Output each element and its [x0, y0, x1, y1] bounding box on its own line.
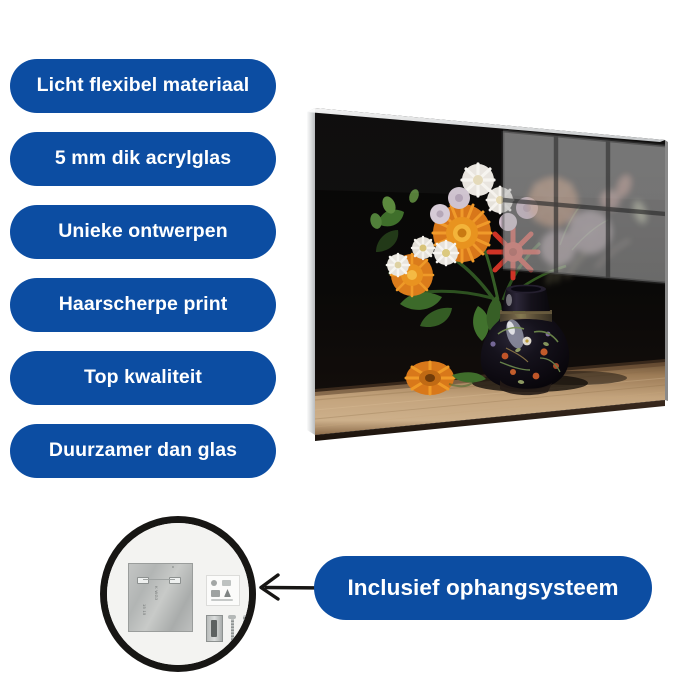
- screw-shaft: [231, 619, 234, 641]
- window-reflection-overlay: [315, 108, 666, 284]
- feature-badge-label: Unieke ontwerpen: [58, 222, 228, 242]
- feature-badge-label: Top kwaliteit: [84, 368, 202, 388]
- artwork-surface: [310, 100, 670, 440]
- product-feature-panel: Licht flexibel materiaal 5 mm dik acrylg…: [0, 0, 700, 700]
- flowers-white-cluster: [387, 164, 538, 276]
- window-mullions: [503, 131, 666, 283]
- hanging-system-callout-circle: K WG3 15 15 x: [100, 516, 256, 672]
- feature-badge-label: 5 mm dik acrylglas: [55, 149, 231, 169]
- mounting-plate-marking: x: [171, 566, 176, 568]
- feature-badge-label: Licht flexibel materiaal: [37, 76, 250, 96]
- instruction-leaflet: [206, 575, 240, 606]
- mounting-plate-marking: K WG3: [154, 586, 159, 600]
- hanging-system-hardware-photo: K WG3 15 15 x: [106, 519, 256, 672]
- wall-anchor: [206, 615, 223, 642]
- feature-badge-5-mm-dik-acrylglas[interactable]: 5 mm dik acrylglas: [10, 132, 276, 186]
- flower-fallen-orange: [406, 361, 486, 395]
- warning-triangle-icon: [224, 589, 231, 597]
- leaflet-icon: [211, 590, 220, 597]
- leaflet-icon: [222, 580, 231, 586]
- feature-badge-unieke-ontwerpen[interactable]: Unieke ontwerpen: [10, 205, 276, 259]
- leaflet-text-line: [211, 599, 233, 601]
- feature-badge-haarscherpe-print[interactable]: Haarscherpe print: [10, 278, 276, 332]
- feature-badge-label: Duurzamer dan glas: [49, 441, 237, 461]
- acrylic-edges: [307, 108, 668, 441]
- screw: [228, 615, 236, 641]
- mounting-plate-marking: 15 15: [142, 604, 147, 616]
- feature-badge-label: Haarscherpe print: [59, 295, 228, 315]
- wood-grain: [315, 370, 665, 427]
- hanging-system-badge-label: Inclusief ophangsysteem: [347, 577, 618, 600]
- bouquet-foliage: [369, 188, 608, 341]
- flower-orange-left: [391, 254, 433, 296]
- mounting-plate: K WG3 15 15 x: [128, 563, 193, 632]
- feature-badge-licht-flexibel-materiaal[interactable]: Licht flexibel materiaal: [10, 59, 276, 113]
- flower-orange-large: [433, 203, 491, 262]
- hanging-system-badge[interactable]: Inclusief ophangsysteem: [314, 556, 652, 620]
- feature-badge-top-kwaliteit[interactable]: Top kwaliteit: [10, 351, 276, 405]
- flower-red: [489, 226, 538, 278]
- bouquet-flowers: [387, 164, 538, 395]
- feature-badge-duurzamer-dan-glas[interactable]: Duurzamer dan glas: [10, 424, 276, 478]
- wall-plug: [243, 615, 250, 641]
- leaflet-icon: [211, 580, 217, 586]
- decorated-vase: [481, 285, 570, 396]
- mounting-plate-guide-line: [143, 579, 175, 580]
- vase-floral-motif: [490, 328, 560, 385]
